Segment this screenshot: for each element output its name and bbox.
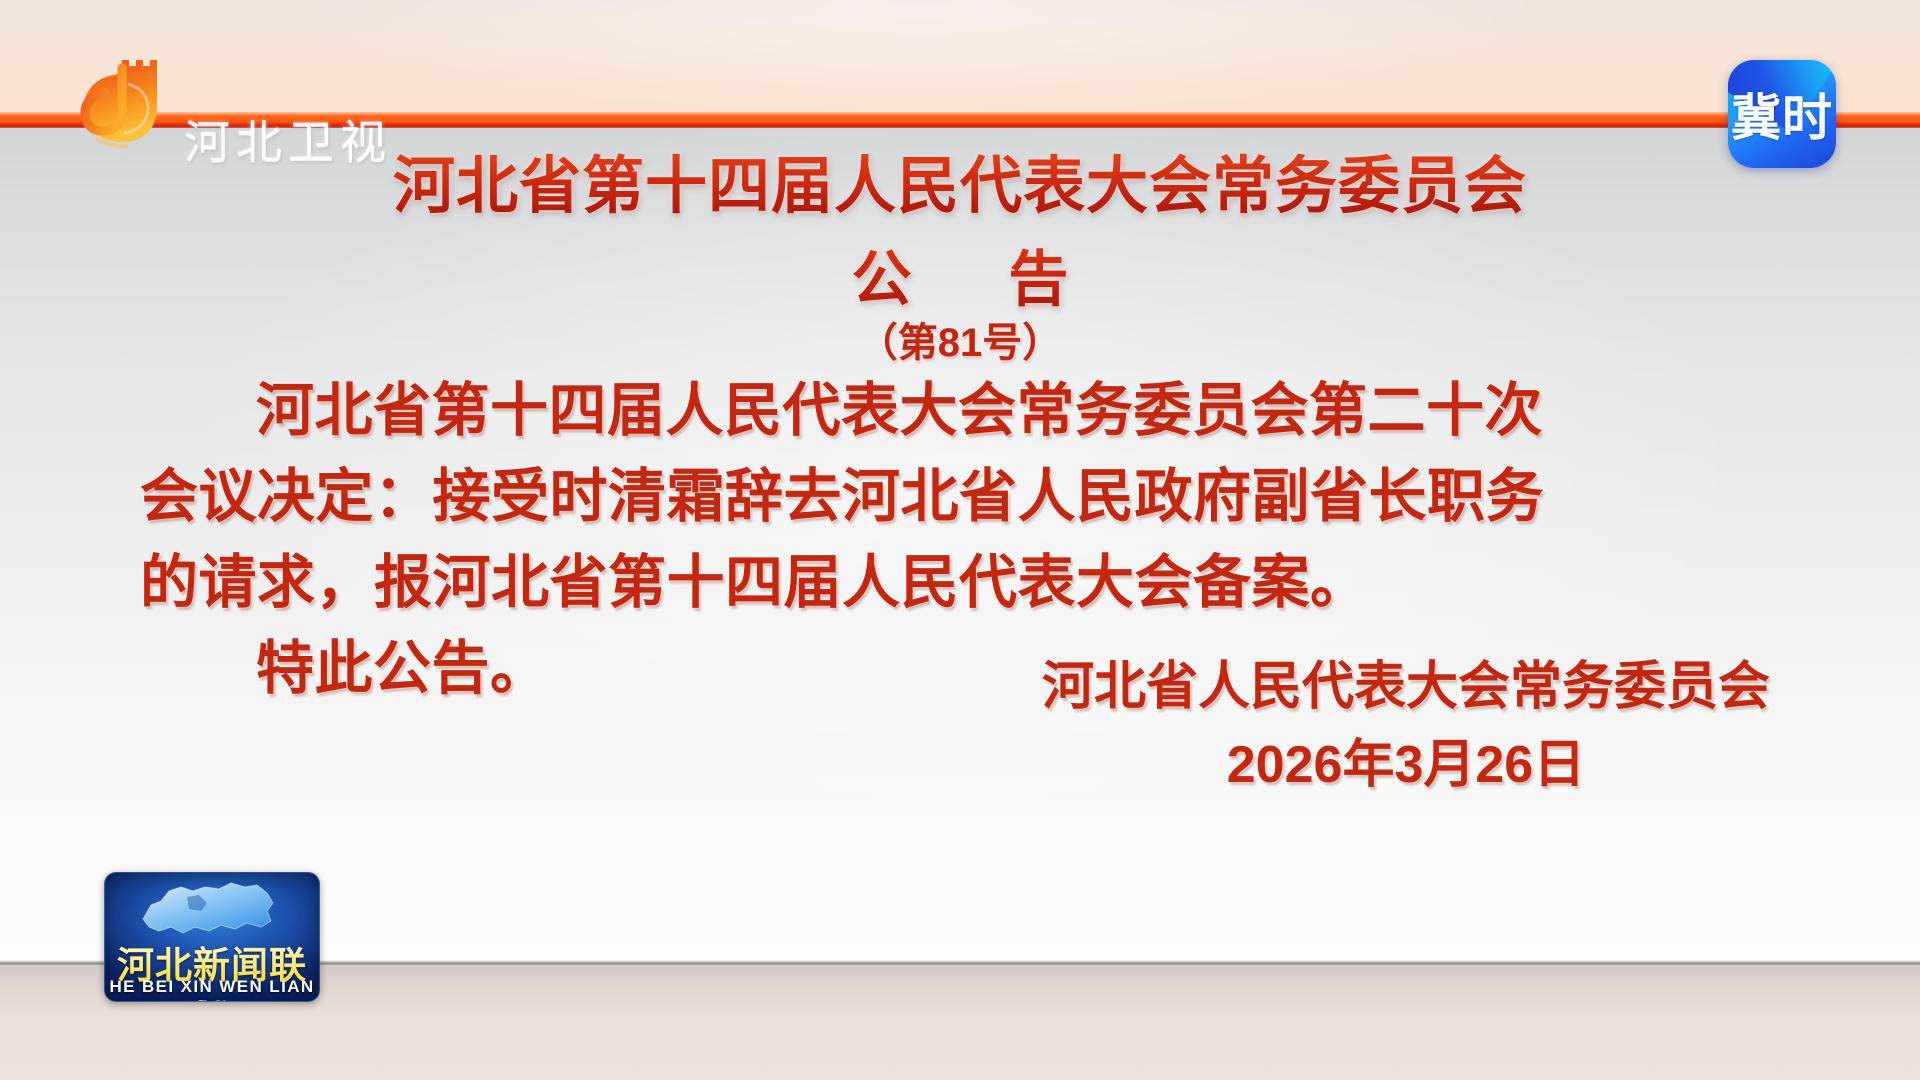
body-line: 会议决定：接受时清霜辞去河北省人民政府副省长职务 bbox=[140, 454, 1780, 540]
signature-organization: 河北省人民代表大会常务委员会 bbox=[1042, 648, 1770, 726]
program-bug: 河北新闻联播 HE BEI XIN WEN LIAN BO bbox=[104, 872, 320, 1002]
document-title: 河北省第十四届人民代表大会常务委员会 bbox=[0, 152, 1920, 221]
document-number: （第81号） bbox=[0, 310, 1920, 368]
broadcast-screen: 河北卫视 冀时 河北省第十四届人民代表大会常务委员会 公 告 （第81号） 河北… bbox=[0, 0, 1920, 1080]
body-line: 河北省第十四届人民代表大会常务委员会第二十次 bbox=[140, 368, 1780, 454]
body-line: 的请求，报河北省第十四届人民代表大会备案。 bbox=[140, 540, 1780, 626]
program-bug-pinyin: HE BEI XIN WEN LIAN BO bbox=[105, 977, 319, 1002]
document-subtitle: 公 告 bbox=[0, 231, 1920, 318]
announcement-document: 河北省第十四届人民代表大会常务委员会 公 告 （第81号） 河北省第十四届人民代… bbox=[0, 128, 1920, 963]
document-signature: 河北省人民代表大会常务委员会 2026年3月26日 bbox=[1042, 648, 1770, 804]
hebei-province-map-icon bbox=[135, 879, 285, 941]
signature-date: 2026年3月26日 bbox=[1042, 726, 1770, 804]
